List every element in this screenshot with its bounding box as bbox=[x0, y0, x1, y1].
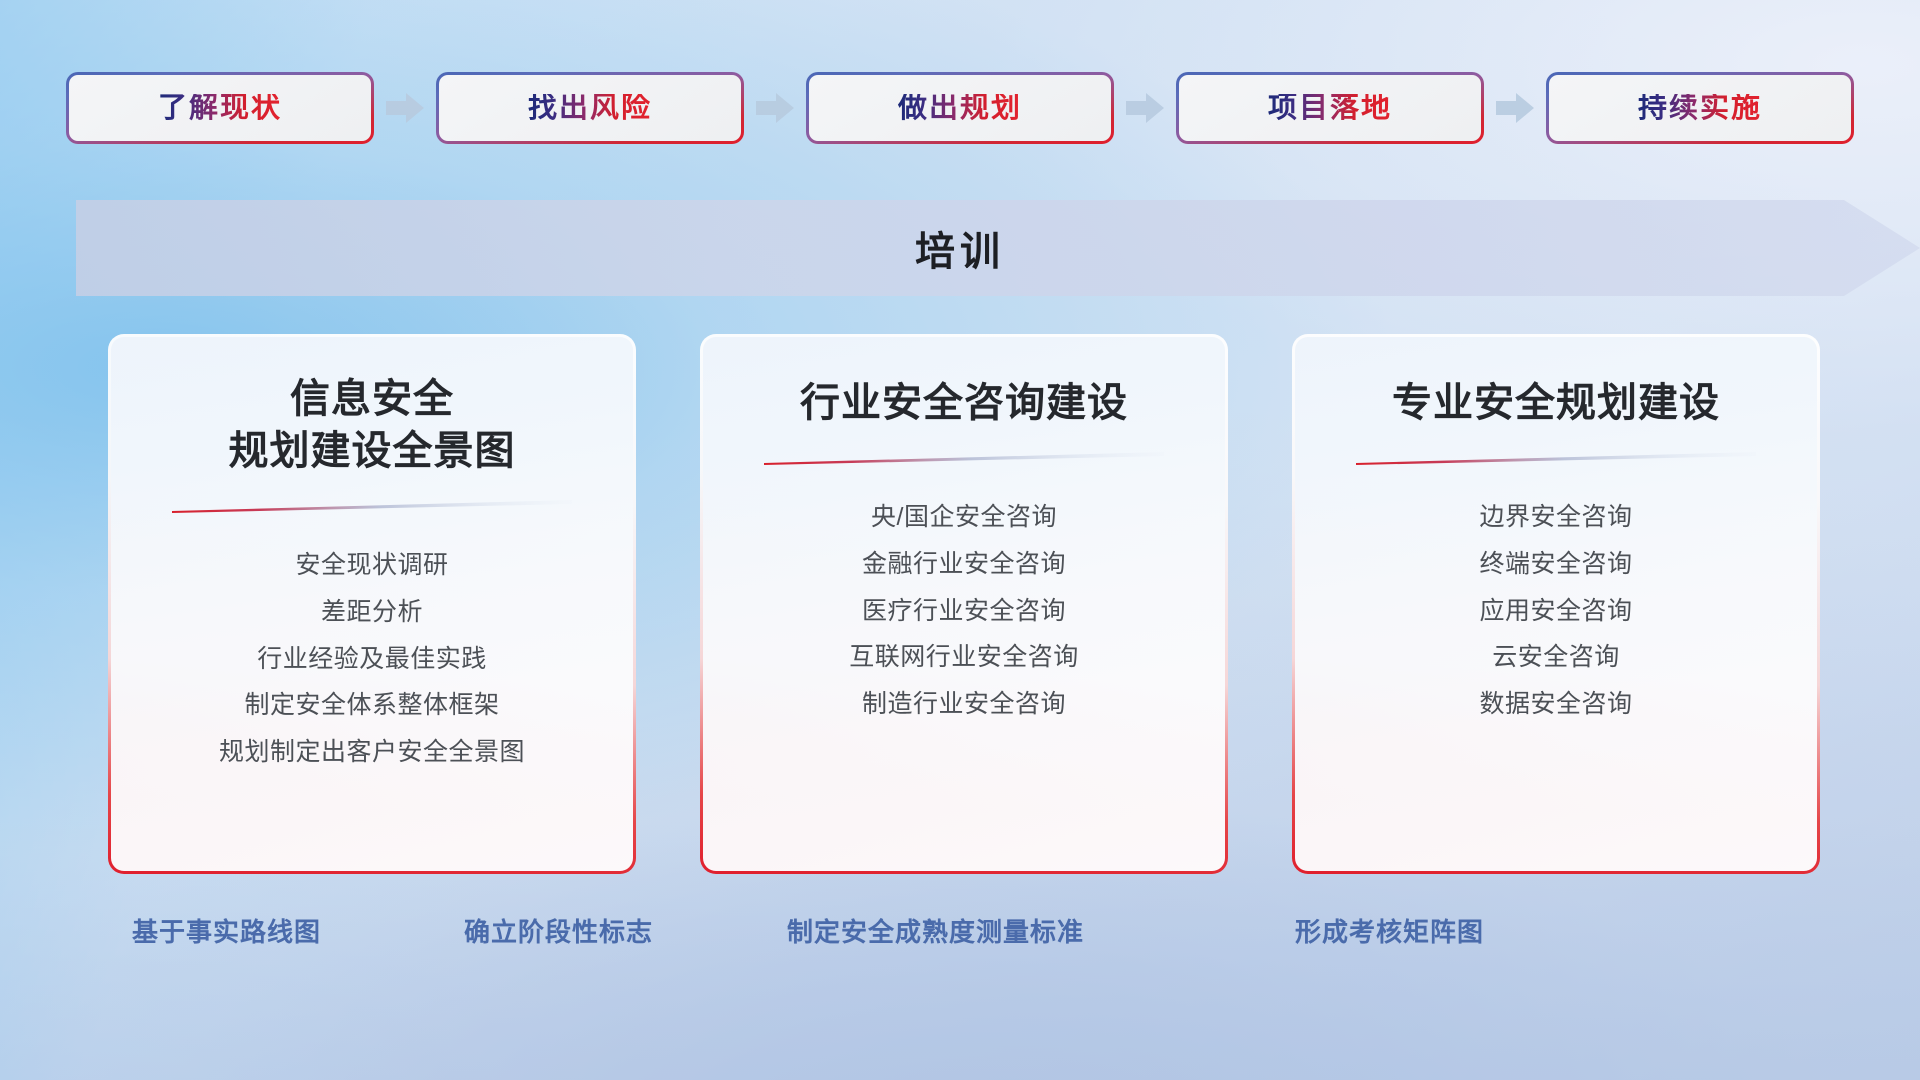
service-card-list-item[interactable]: 互联网行业安全咨询 bbox=[849, 643, 1079, 672]
process-step-3[interactable]: 做出规划 bbox=[806, 72, 1114, 144]
footnote-row: 基于事实路线图确立阶段性标志制定安全成熟度测量标准形成考核矩阵图 bbox=[0, 912, 1920, 972]
process-step-1[interactable]: 了解现状 bbox=[66, 72, 374, 144]
service-card-body: 行业安全咨询建设央/国企安全咨询金融行业安全咨询医疗行业安全咨询互联网行业安全咨… bbox=[703, 337, 1225, 871]
service-card-list-item[interactable]: 云安全咨询 bbox=[1492, 643, 1620, 672]
process-step-label: 持续实施 bbox=[1638, 94, 1762, 123]
footnote-label-1: 基于事实路线图 bbox=[132, 912, 321, 949]
service-card-title: 专业安全规划建设 bbox=[1392, 377, 1720, 429]
card-row: 信息安全规划建设全景图安全现状调研差距分析行业经验及最佳实践制定安全体系整体框架… bbox=[108, 334, 1820, 874]
footnote-label-4: 形成考核矩阵图 bbox=[1295, 912, 1484, 949]
service-card-title: 行业安全咨询建设 bbox=[800, 377, 1128, 429]
red-gradient-divider bbox=[764, 451, 1164, 465]
step-arrow-icon bbox=[374, 72, 436, 144]
service-card-list-item[interactable]: 行业经验及最佳实践 bbox=[257, 645, 487, 674]
process-step-row: 了解现状找出风险做出规划项目落地持续实施 bbox=[0, 72, 1920, 144]
service-card-1[interactable]: 信息安全规划建设全景图安全现状调研差距分析行业经验及最佳实践制定安全体系整体框架… bbox=[108, 334, 636, 874]
service-card-list-item[interactable]: 终端安全咨询 bbox=[1479, 550, 1632, 579]
process-step-inner: 了解现状 bbox=[69, 75, 371, 141]
process-step-label: 找出风险 bbox=[528, 94, 652, 123]
service-card-title-line: 行业安全咨询建设 bbox=[800, 377, 1128, 429]
service-card-list-item[interactable]: 制定安全体系整体框架 bbox=[244, 691, 499, 720]
service-card-title-line: 专业安全规划建设 bbox=[1392, 377, 1720, 429]
banner-title: 培训 bbox=[76, 200, 1844, 296]
service-card-2[interactable]: 行业安全咨询建设央/国企安全咨询金融行业安全咨询医疗行业安全咨询互联网行业安全咨… bbox=[700, 334, 1228, 874]
process-step-inner: 项目落地 bbox=[1179, 75, 1481, 141]
step-arrow-icon bbox=[1484, 72, 1546, 144]
footnote-label-3: 制定安全成熟度测量标准 bbox=[787, 912, 1084, 949]
service-card-3[interactable]: 专业安全规划建设边界安全咨询终端安全咨询应用安全咨询云安全咨询数据安全咨询 bbox=[1292, 334, 1820, 874]
step-arrow-icon bbox=[744, 72, 806, 144]
process-step-label: 项目落地 bbox=[1268, 94, 1392, 123]
service-card-title-line: 信息安全 bbox=[229, 373, 516, 425]
process-step-inner: 做出规划 bbox=[809, 75, 1111, 141]
service-card-list-item[interactable]: 数据安全咨询 bbox=[1479, 690, 1632, 719]
service-card-list: 安全现状调研差距分析行业经验及最佳实践制定安全体系整体框架规划制定出客户安全全景… bbox=[111, 551, 633, 767]
service-card-list-item[interactable]: 应用安全咨询 bbox=[1479, 597, 1632, 626]
service-card-list-item[interactable]: 制造行业安全咨询 bbox=[862, 690, 1066, 719]
service-card-list-item[interactable]: 安全现状调研 bbox=[295, 551, 448, 580]
red-gradient-divider bbox=[172, 499, 572, 513]
process-step-inner: 持续实施 bbox=[1549, 75, 1851, 141]
step-arrow-icon bbox=[1114, 72, 1176, 144]
service-card-title-line: 规划建设全景图 bbox=[229, 425, 516, 477]
process-step-inner: 找出风险 bbox=[439, 75, 741, 141]
process-step-5[interactable]: 持续实施 bbox=[1546, 72, 1854, 144]
process-step-2[interactable]: 找出风险 bbox=[436, 72, 744, 144]
service-card-list-item[interactable]: 金融行业安全咨询 bbox=[862, 550, 1066, 579]
process-step-label: 做出规划 bbox=[898, 94, 1022, 123]
service-card-list-item[interactable]: 边界安全咨询 bbox=[1479, 503, 1632, 532]
process-step-4[interactable]: 项目落地 bbox=[1176, 72, 1484, 144]
service-card-body: 信息安全规划建设全景图安全现状调研差距分析行业经验及最佳实践制定安全体系整体框架… bbox=[111, 337, 633, 871]
service-card-title: 信息安全规划建设全景图 bbox=[229, 373, 516, 477]
service-card-body: 专业安全规划建设边界安全咨询终端安全咨询应用安全咨询云安全咨询数据安全咨询 bbox=[1295, 337, 1817, 871]
process-steps: 了解现状找出风险做出规划项目落地持续实施 bbox=[66, 72, 1854, 144]
service-card-list-item[interactable]: 央/国企安全咨询 bbox=[871, 503, 1057, 532]
service-card-list: 央/国企安全咨询金融行业安全咨询医疗行业安全咨询互联网行业安全咨询制造行业安全咨… bbox=[703, 503, 1225, 719]
training-banner: 培训 bbox=[76, 200, 1920, 296]
service-card-list-item[interactable]: 医疗行业安全咨询 bbox=[862, 597, 1066, 626]
service-card-list-item[interactable]: 规划制定出客户安全全景图 bbox=[219, 738, 525, 767]
service-card-list-item[interactable]: 差距分析 bbox=[321, 598, 423, 627]
red-gradient-divider bbox=[1356, 451, 1756, 465]
footnote-label-2: 确立阶段性标志 bbox=[464, 912, 653, 949]
service-card-list: 边界安全咨询终端安全咨询应用安全咨询云安全咨询数据安全咨询 bbox=[1295, 503, 1817, 719]
process-step-label: 了解现状 bbox=[158, 94, 282, 123]
